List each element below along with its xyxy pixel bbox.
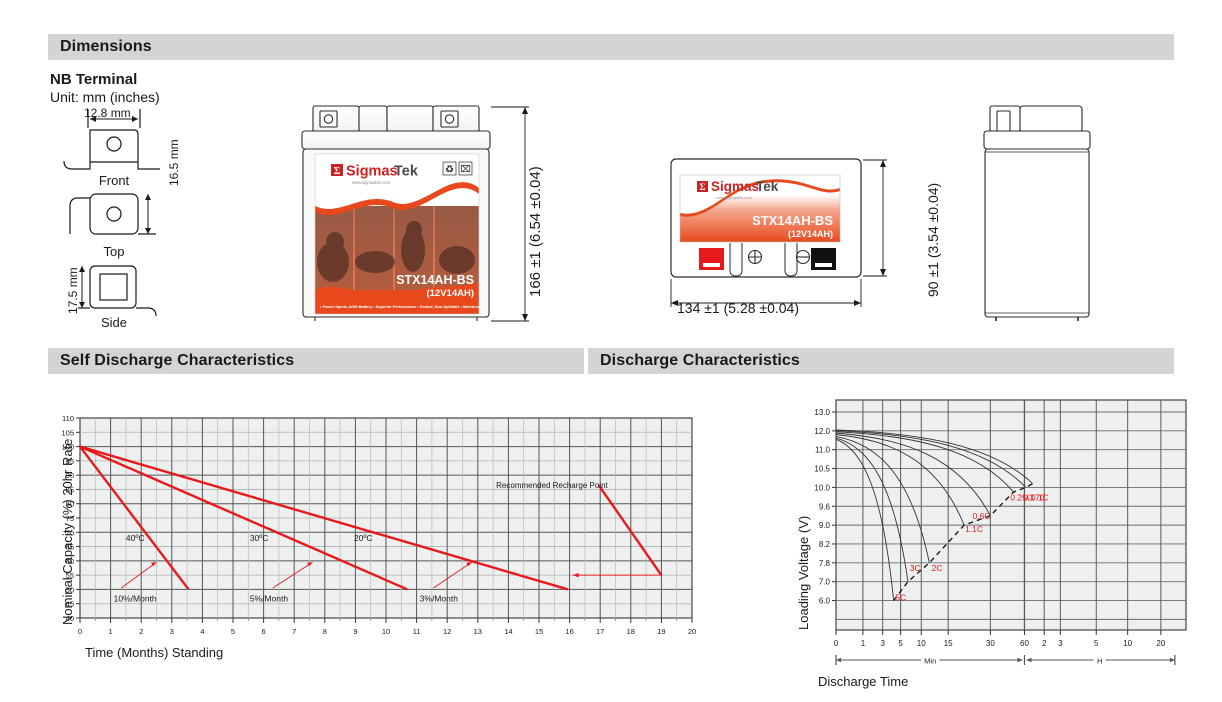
y-tick-label: 12.0 — [814, 427, 830, 436]
discharge-title: Discharge Characteristics — [588, 352, 800, 370]
curve-label-0.6C: 0.6C — [973, 511, 991, 521]
axis-span-hour: H — [1097, 657, 1102, 666]
y-tick-label: 9.6 — [819, 502, 831, 511]
x-tick-label: 17 — [596, 627, 604, 636]
x-tick-label: 10 — [382, 627, 390, 636]
svg-text:(12V14AH): (12V14AH) — [788, 229, 833, 239]
x-tick-label: 0 — [78, 627, 82, 636]
discharge-xlabel: Discharge Time — [818, 674, 908, 689]
x-tick-label: 15 — [535, 627, 543, 636]
x-tick-label: 8 — [323, 627, 327, 636]
curve-label-1.1C: 1.1C — [965, 524, 983, 534]
chart-annotation: 3%/Month — [420, 593, 459, 603]
terminal-depth-label: 17.5 mm — [66, 267, 80, 314]
svg-text:Tek: Tek — [394, 164, 419, 180]
svg-text:Tek: Tek — [756, 179, 779, 194]
x-tick-label: 3 — [1058, 639, 1063, 648]
x-tick-label: 1 — [109, 627, 113, 636]
battery-front-view: Σ Sigmas Tek www.sigmastek.com ♻ ⌧ STX14… — [293, 102, 543, 332]
svg-text:Sigmas: Sigmas — [346, 164, 398, 180]
x-tick-label: 5 — [1094, 639, 1099, 648]
chart-annotation: 40ºC — [126, 533, 145, 543]
x-tick-label: 6 — [262, 627, 266, 636]
svg-text:♻: ♻ — [445, 165, 454, 176]
svg-text:(12V14AH): (12V14AH) — [426, 288, 474, 299]
y-tick-label: 11.0 — [815, 446, 831, 455]
svg-text:STX14AH-BS: STX14AH-BS — [396, 273, 474, 287]
self-discharge-chart: 4045505560657075808590951001051100123456… — [40, 410, 720, 675]
x-tick-label: 3 — [170, 627, 174, 636]
y-tick-label: 6.0 — [819, 597, 831, 606]
battery-side-height-dimension: 90 ±1 (3.54 ±0.04) — [925, 183, 941, 297]
x-tick-label: 2 — [1042, 639, 1047, 648]
nb-terminal-heading: NB Terminal — [50, 71, 137, 88]
discharge-section-header: Discharge Characteristics — [588, 348, 1174, 374]
x-tick-label: 11 — [413, 627, 421, 636]
discharge-chart: 13.012.011.010.510.09.69.08.27.87.06.001… — [790, 392, 1210, 682]
chart-annotation: 20ºC — [354, 533, 373, 543]
x-tick-label: 4 — [200, 627, 204, 636]
self-discharge-ylabel: Nominal Capacity (%) 20hr Rate — [60, 439, 75, 625]
battery-height-dimension: 166 ±1 (6.54 ±0.04) — [527, 166, 544, 297]
x-tick-label: 5 — [898, 639, 903, 648]
y-tick-label: 10.5 — [814, 465, 830, 474]
x-tick-label: 9 — [353, 627, 357, 636]
x-tick-label: 7 — [292, 627, 296, 636]
svg-text:Sigmas: Sigmas — [711, 179, 759, 194]
curve-label-3C: 3C — [910, 563, 921, 573]
svg-text:• Power Sports AGM Battery •: • Power Sports AGM Battery • Superior Pe… — [320, 304, 497, 309]
terminal-width-label: 12.8 mm — [84, 106, 131, 120]
curve-label-0.1C: 0.1C — [1031, 493, 1049, 503]
battery-terminal-face-view: Σ Sigmas Tek www.sigmastek.com STX14AH-B… — [655, 155, 915, 320]
chart-annotation: Recommended Recharge Point — [496, 481, 608, 490]
axis-span-min: Min — [924, 657, 936, 666]
discharge-ylabel: Loading Voltage (V) — [796, 516, 811, 630]
x-tick-label: 20 — [1156, 639, 1165, 648]
x-tick-label: 15 — [944, 639, 953, 648]
battery-width-dimension: 134 ±1 (5.28 ±0.04) — [677, 300, 799, 316]
x-tick-label: 12 — [443, 627, 451, 636]
x-tick-label: 3 — [880, 639, 885, 648]
svg-text:Σ: Σ — [334, 166, 341, 177]
svg-text:Σ: Σ — [700, 182, 706, 192]
self-discharge-section-header: Self Discharge Characteristics — [48, 348, 584, 374]
y-tick-label: 13.0 — [814, 408, 830, 417]
x-tick-label: 2 — [139, 627, 143, 636]
y-tick-label: 7.8 — [819, 559, 831, 568]
unit-label: Unit: mm (inches) — [50, 89, 160, 105]
x-tick-label: 1 — [861, 639, 866, 648]
x-tick-label: 10 — [917, 639, 926, 648]
x-tick-label: 60 — [1020, 639, 1029, 648]
top-view-label: Top — [104, 244, 125, 259]
y-tick-label: 7.0 — [819, 578, 831, 587]
x-tick-label: 18 — [627, 627, 635, 636]
terminal-height-label: 16.5 mm — [167, 139, 181, 186]
x-tick-label: 14 — [504, 627, 512, 636]
x-tick-label: 10 — [1123, 639, 1132, 648]
y-tick-label: 8.2 — [819, 540, 831, 549]
chart-annotation: 30ºC — [250, 533, 269, 543]
svg-text:⌧: ⌧ — [460, 164, 470, 174]
y-tick-label: 10.0 — [814, 483, 830, 492]
dimensions-section-header: Dimensions — [48, 34, 1174, 60]
x-tick-label: 13 — [474, 627, 482, 636]
x-tick-label: 0 — [834, 639, 839, 648]
svg-text:STX14AH-BS: STX14AH-BS — [752, 213, 833, 228]
terminal-side-view — [78, 266, 156, 316]
terminal-top-view — [70, 194, 156, 234]
front-view-label: Front — [99, 173, 130, 188]
y-tick-label: 105 — [61, 428, 74, 437]
chart-annotation: 10%/Month — [114, 593, 157, 603]
chart-annotation: 5%/Month — [250, 593, 289, 603]
x-tick-label: 5 — [231, 627, 235, 636]
battery-side-profile-view — [978, 102, 1098, 332]
x-tick-label: 19 — [657, 627, 665, 636]
svg-text:www.sigmastek.com: www.sigmastek.com — [716, 195, 753, 200]
y-tick-label: 110 — [62, 414, 74, 423]
x-tick-label: 20 — [688, 627, 696, 636]
x-tick-label: 30 — [986, 639, 995, 648]
y-tick-label: 9.0 — [819, 521, 831, 530]
side-view-label: Side — [101, 315, 127, 330]
svg-text:www.sigmastek.com: www.sigmastek.com — [352, 180, 390, 185]
curve-label-2C: 2C — [932, 563, 943, 573]
self-discharge-title: Self Discharge Characteristics — [48, 352, 294, 370]
curve-label-5C: 5C — [895, 593, 906, 603]
self-discharge-xlabel: Time (Months) Standing — [85, 645, 223, 660]
x-tick-label: 16 — [565, 627, 573, 636]
dimensions-title: Dimensions — [48, 38, 152, 56]
